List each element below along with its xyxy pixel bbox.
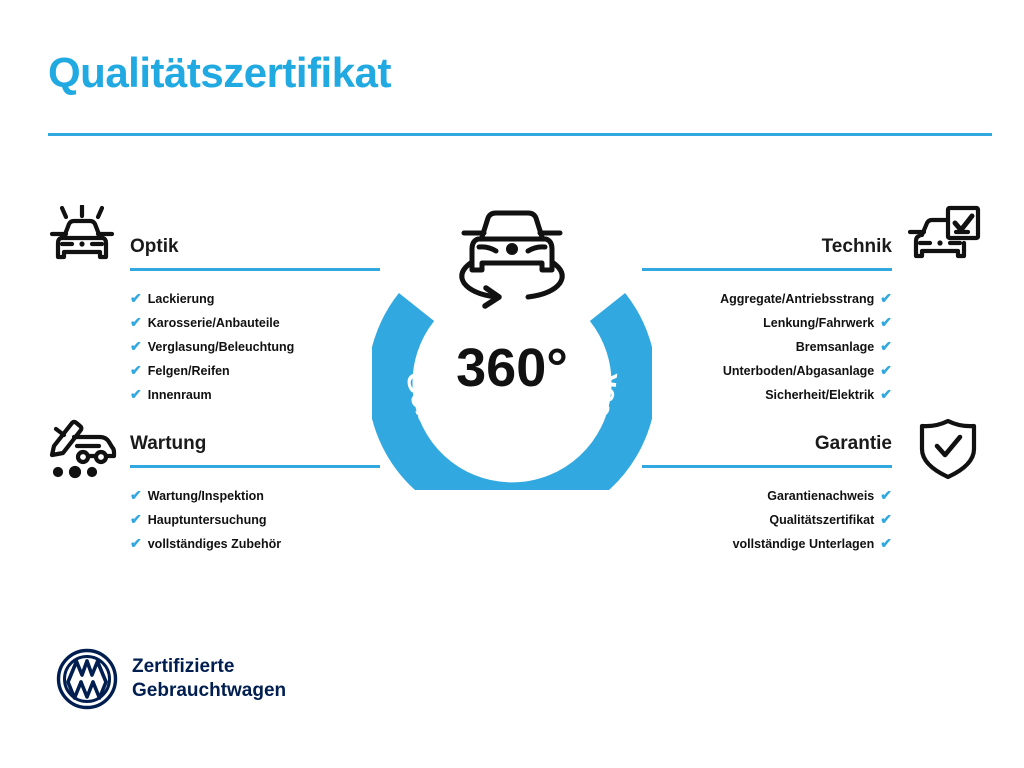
list-item: ✔ vollständiges Zubehör (130, 532, 380, 556)
check-icon: ✔ (130, 532, 142, 555)
check-icon: ✔ (880, 508, 892, 531)
check-icon: ✔ (880, 383, 892, 406)
list-item-label: Lenkung/Fahrwerk (763, 312, 874, 335)
section-optik: Optik ✔ Lackierung ✔ Karosserie/Anbautei… (130, 233, 380, 407)
section-items-technik: Aggregate/Antriebsstrang ✔ Lenkung/Fahrw… (642, 287, 892, 407)
section-items-garantie: Garantienachweis ✔ Qualitätszertifikat ✔… (642, 484, 892, 556)
section-head-garantie: Garantie (642, 430, 892, 476)
check-icon: ✔ (130, 359, 142, 382)
list-item: vollständige Unterlagen ✔ (642, 532, 892, 556)
section-items-optik: ✔ Lackierung ✔ Karosserie/Anbauteile ✔ V… (130, 287, 380, 407)
check-icon: ✔ (130, 508, 142, 531)
list-item: ✔ Hauptuntersuchung (130, 508, 380, 532)
check-icon: ✔ (880, 335, 892, 358)
section-garantie: Garantie Garantienachweis ✔ Qualitätszer… (642, 430, 892, 556)
list-item: ✔ Verglasung/Beleuchtung (130, 335, 380, 359)
section-title-optik: Optik (130, 233, 380, 261)
list-item-label: Felgen/Reifen (148, 360, 230, 383)
page-title: Qualitätszertifikat (48, 52, 391, 94)
section-divider-garantie (642, 465, 892, 468)
footer-brand-text: Zertifizierte Gebrauchtwagen (132, 655, 286, 703)
check-icon: ✔ (880, 287, 892, 310)
list-item: Qualitätszertifikat ✔ (642, 508, 892, 532)
list-item: Aggregate/Antriebsstrang ✔ (642, 287, 892, 311)
section-head-wartung: Wartung (130, 430, 380, 476)
check-icon: ✔ (130, 287, 142, 310)
check-icon: ✔ (130, 311, 142, 334)
check-icon: ✔ (880, 484, 892, 507)
list-item-label: Verglasung/Beleuchtung (148, 336, 295, 359)
list-item: ✔ Karosserie/Anbauteile (130, 311, 380, 335)
list-item: Bremsanlage ✔ (642, 335, 892, 359)
section-head-optik: Optik (130, 233, 380, 279)
list-item-label: Hauptuntersuchung (148, 509, 267, 532)
list-item: ✔ Wartung/Inspektion (130, 484, 380, 508)
section-divider-optik (130, 268, 380, 271)
list-item: ✔ Innenraum (130, 383, 380, 407)
footer-brand-line1: Zertifizierte (132, 655, 286, 679)
list-item-label: vollständiges Zubehör (148, 533, 281, 556)
list-item-label: Aggregate/Antriebsstrang (720, 288, 874, 311)
list-item-label: Unterboden/Abgasanlage (723, 360, 874, 383)
check-icon: ✔ (130, 335, 142, 358)
section-title-wartung: Wartung (130, 430, 380, 458)
check-icon: ✔ (880, 359, 892, 382)
check-icon: ✔ (880, 532, 892, 555)
shield-check-icon (910, 415, 986, 481)
list-item-label: Bremsanlage (796, 336, 875, 359)
section-title-technik: Technik (642, 233, 892, 261)
list-item: Lenkung/Fahrwerk ✔ (642, 311, 892, 335)
list-item: Sicherheit/Elektrik ✔ (642, 383, 892, 407)
badge-360-gebrauchtwagen-check: Gebrauchtwagen-Check 360° (372, 190, 652, 490)
list-item: Unterboden/Abgasanlage ✔ (642, 359, 892, 383)
check-icon: ✔ (130, 484, 142, 507)
list-item-label: Qualitätszertifikat (769, 509, 874, 532)
list-item-label: vollständige Unterlagen (733, 533, 875, 556)
check-icon: ✔ (880, 311, 892, 334)
list-item-label: Sicherheit/Elektrik (765, 384, 874, 407)
list-item: ✔ Felgen/Reifen (130, 359, 380, 383)
title-divider (48, 133, 992, 136)
section-title-garantie: Garantie (642, 430, 892, 458)
section-divider-wartung (130, 465, 380, 468)
list-item-label: Innenraum (148, 384, 212, 407)
section-items-wartung: ✔ Wartung/Inspektion ✔ Hauptuntersuchung… (130, 484, 380, 556)
footer-brand-line2: Gebrauchtwagen (132, 679, 286, 703)
list-item-label: Lackierung (148, 288, 215, 311)
section-technik: Technik Aggregate/Antriebsstrang ✔ Lenku… (642, 233, 892, 407)
section-head-technik: Technik (642, 233, 892, 279)
pencil-van-service-icon (44, 415, 120, 481)
car-checkbox-icon (906, 205, 982, 271)
section-wartung: Wartung ✔ Wartung/Inspektion ✔ Hauptunte… (130, 430, 380, 556)
list-item: Garantienachweis ✔ (642, 484, 892, 508)
car-rotate-360-icon (462, 213, 562, 306)
volkswagen-logo (56, 648, 118, 710)
section-divider-technik (642, 268, 892, 271)
car-shine-icon (44, 205, 120, 271)
list-item-label: Karosserie/Anbauteile (148, 312, 280, 335)
list-item: ✔ Lackierung (130, 287, 380, 311)
list-item-label: Garantienachweis (767, 485, 874, 508)
list-item-label: Wartung/Inspektion (148, 485, 264, 508)
check-icon: ✔ (130, 383, 142, 406)
badge-center-label: 360° (456, 338, 568, 398)
